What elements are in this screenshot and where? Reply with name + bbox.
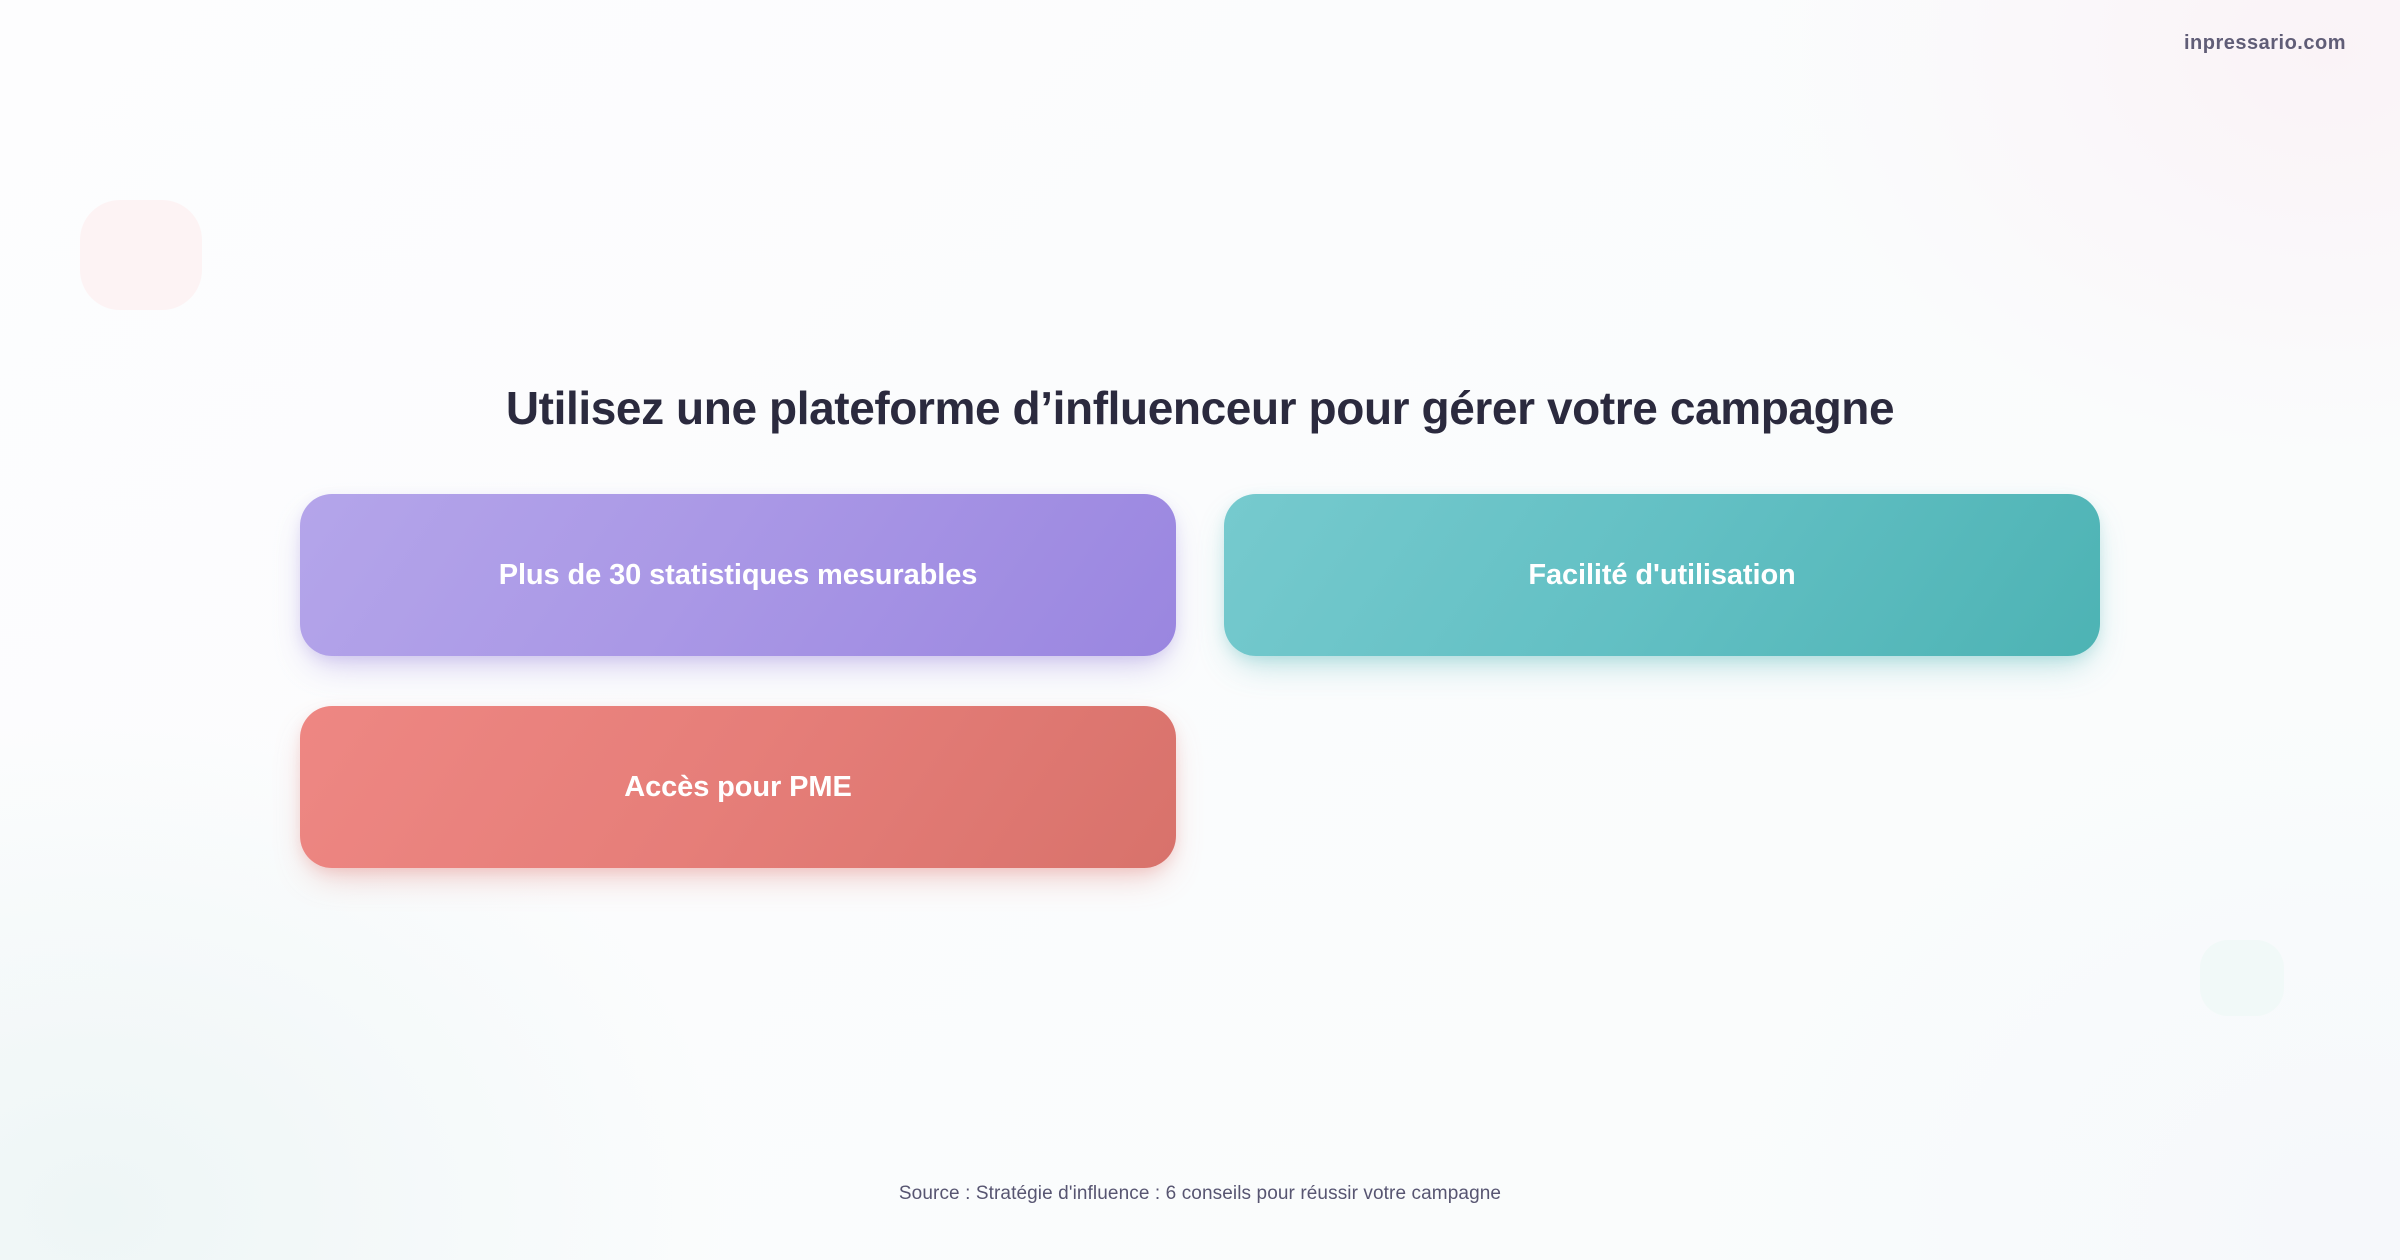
benefit-card-label: Plus de 30 statistiques mesurables <box>499 558 978 593</box>
benefit-card-ease-of-use[interactable]: Facilité d'utilisation <box>1224 494 2100 656</box>
benefit-card-label: Accès pour PME <box>624 770 851 805</box>
infographic-stage: Utilisez une plateforme d’influenceur po… <box>0 0 2400 1260</box>
page-title: Utilisez une plateforme d’influenceur po… <box>0 382 2400 435</box>
benefit-card-sme-access[interactable]: Accès pour PME <box>300 706 1176 868</box>
benefit-card-label: Facilité d'utilisation <box>1528 558 1795 593</box>
benefit-card-grid: Plus de 30 statistiques mesurables Facil… <box>300 494 2100 868</box>
source-caption: Source : Stratégie d'influence : 6 conse… <box>0 1183 2400 1205</box>
benefit-card-statistics[interactable]: Plus de 30 statistiques mesurables <box>300 494 1176 656</box>
brand-watermark: inpressario.com <box>2184 32 2346 55</box>
